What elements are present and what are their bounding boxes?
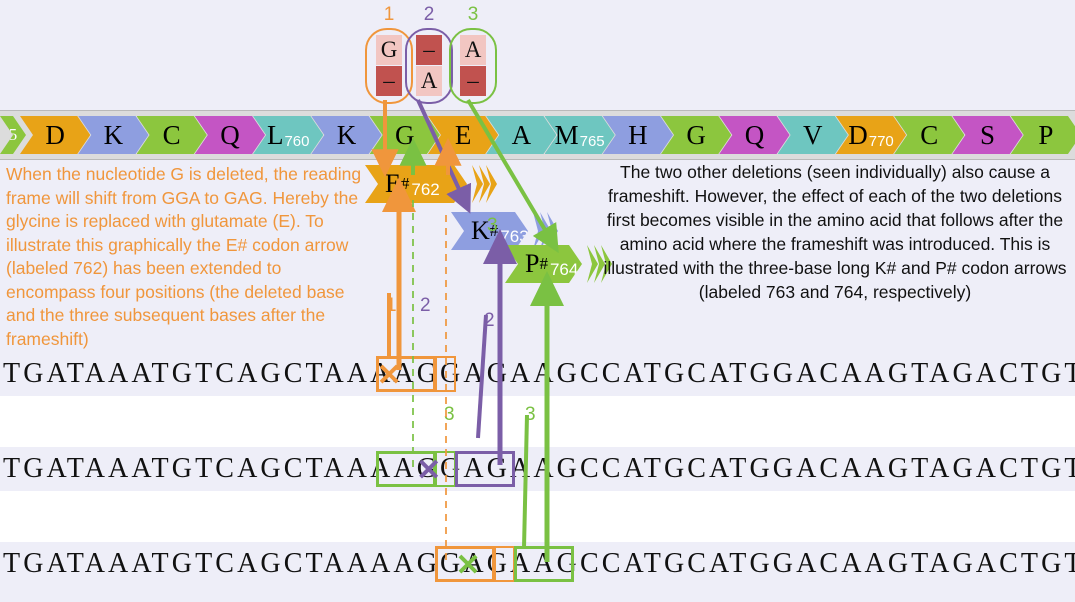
variant-group-3[interactable]: 3A– <box>449 28 497 104</box>
amino-acid-D-1[interactable]: D <box>20 116 90 154</box>
variant-number-label: 3 <box>451 4 495 26</box>
codon-hash-mark: # <box>401 174 410 194</box>
sequence-highlight-box <box>435 356 456 392</box>
alternate-base-cell: – <box>376 66 402 96</box>
reference-base-cell: G <box>376 35 402 65</box>
sequence-gap <box>0 396 1075 447</box>
amino-acid-letter: C <box>163 120 181 151</box>
amino-acid-letter: K <box>104 120 124 151</box>
variant-number-label: 1 <box>367 4 411 26</box>
reference-base-cell: A <box>460 35 486 65</box>
codon-number: 763 <box>500 227 528 247</box>
sequence-highlight-box <box>514 546 574 582</box>
amino-acid-position: 765 <box>580 133 605 150</box>
amino-acid-letter: G <box>686 120 706 151</box>
amino-acid-letter: E <box>455 120 472 151</box>
dna-sequence-text: TGATAAATGTCAGCTAAAAGGAGAAGCCATGCATGGACAA… <box>0 358 1075 390</box>
amino-acid-letter: M <box>555 120 579 151</box>
connector-number-label: 2 <box>484 310 495 332</box>
sequence-highlight-box <box>455 451 515 487</box>
codon-number: 764 <box>550 260 578 280</box>
codon-number: 762 <box>411 180 439 200</box>
amino-acid-bar: 5DKCQL760KGEAM765HGQVD770CSP <box>0 110 1075 160</box>
codon-chevron-decoration <box>472 165 494 203</box>
amino-acid-position: 760 <box>284 133 309 150</box>
amino-acid-letter: D <box>848 120 868 151</box>
amino-acid-letter: S <box>980 120 995 151</box>
amino-acid-letter: P <box>1038 120 1053 151</box>
amino-acid-letter: D <box>45 120 65 151</box>
deleted-base-cross: ✕ <box>416 456 441 486</box>
variant-2-row: TGATAAATGTCAGCTAAAAGGAGAAGCCATGCATGGACAA… <box>0 447 1075 491</box>
amino-acid-letter: Q <box>220 120 240 151</box>
connector-number-label: 2 <box>420 295 431 317</box>
reference-base-cell: – <box>416 35 442 65</box>
right-annotation-text: The two other deletions (seen individual… <box>598 160 1072 304</box>
codon-letter: E <box>385 169 401 199</box>
sequence-gap <box>0 491 1075 542</box>
amino-acid-letter: L <box>267 120 284 151</box>
sequence-highlight-box <box>494 546 515 582</box>
amino-acid-letter: 5 <box>9 125 18 145</box>
connector-number-label: 3 <box>444 404 455 426</box>
alternate-base-cell: – <box>460 66 486 96</box>
amino-acid-letter: K <box>337 120 357 151</box>
amino-acid-letter: A <box>512 120 532 151</box>
connector-number-label: 3 <box>487 215 498 237</box>
amino-acid-letter: Q <box>745 120 765 151</box>
variant-bases-pane: 1G–2–A3A– <box>0 0 1075 110</box>
amino-acid-letter: G <box>395 120 415 151</box>
variant-group-2[interactable]: 2–A <box>405 28 453 104</box>
variant-number-label: 2 <box>407 4 451 26</box>
amino-acid-position: 770 <box>869 133 894 150</box>
amino-acid-5-0[interactable]: 5 <box>0 116 26 154</box>
codon-arrow-P-764[interactable]: P#764 <box>505 245 595 283</box>
dna-sequence-text: TGATAAATGTCAGCTAAAAGGAGAAGCCATGCATGGACAA… <box>0 453 1075 485</box>
variant-1-row: TGATAAATGTCAGCTAAAAGGAGAAGCCATGCATGGACAA… <box>0 352 1075 396</box>
left-annotation-text: When the nucleotide G is deleted, the re… <box>6 163 364 351</box>
amino-acid-letter: V <box>803 120 823 151</box>
amino-acid-letter: H <box>628 120 648 151</box>
codon-letter: P <box>525 249 539 279</box>
connector-number-label: 1 <box>386 295 397 317</box>
amino-acid-letter: C <box>920 120 938 151</box>
codon-chevron-decoration <box>533 212 555 250</box>
codon-arrow-E-762[interactable]: E#762 <box>365 165 480 203</box>
connector-number-label: 3 <box>525 404 536 426</box>
alternate-base-cell: A <box>416 66 442 96</box>
deleted-base-cross: ✕ <box>456 551 481 581</box>
deleted-base-cross: ✕ <box>377 361 402 391</box>
codon-hash-mark: # <box>539 254 548 274</box>
amino-acid-track: 5DKCQL760KGEAM765HGQVD770CSP <box>0 116 1075 154</box>
